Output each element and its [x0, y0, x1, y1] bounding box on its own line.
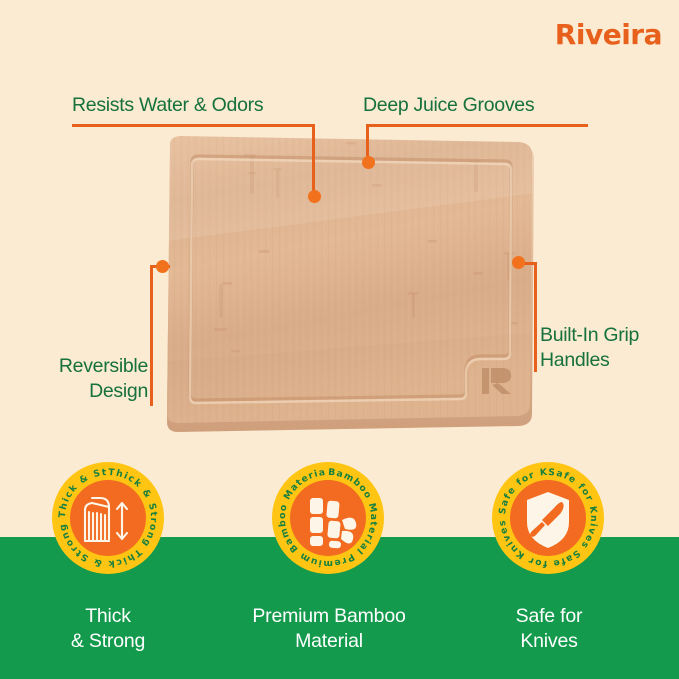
connector-line-resists-water — [72, 124, 315, 127]
callout-label-resists-water-odors: Resists Water & Odors — [72, 93, 322, 118]
infographic-canvas: Riveira — [0, 0, 679, 679]
callout-label-reversible-design: Reversible Design — [8, 354, 148, 404]
connector-line-grip-handles — [534, 262, 537, 372]
connector-dot-grip-handles — [512, 256, 525, 269]
brand-logo: Riveira — [0, 18, 662, 51]
cutting-board-image — [160, 132, 542, 434]
badge-thick-strong: Thick & Strong Thick & Strong Thick & St… — [52, 462, 164, 574]
callout-label-deep-juice-grooves: Deep Juice Grooves — [363, 93, 593, 118]
callout-label-built-in-grip-handles: Built-In Grip Handles — [540, 323, 679, 373]
badge-caption-thick-strong: Thick & Strong — [0, 604, 223, 654]
badge-safe-for-knives: Safe for Knives Safe for Knives Safe for… — [492, 462, 604, 574]
connector-dot-resists-water — [308, 190, 321, 203]
connector-line-reversible-design — [150, 265, 153, 406]
badge-caption-premium-bamboo-material: Premium Bamboo Material — [214, 604, 444, 654]
connector-dot-deep-juice-grooves — [362, 156, 375, 169]
connector-dot-reversible-design — [156, 260, 169, 273]
connector-line-deep-juice-grooves — [366, 124, 588, 127]
connector-line-resists-water-vertical — [312, 124, 315, 196]
badge-caption-safe-for-knives: Safe for Knives — [434, 604, 664, 654]
badge-premium-bamboo-material: Bamboo Material Premium Bamboo Material … — [272, 462, 384, 574]
